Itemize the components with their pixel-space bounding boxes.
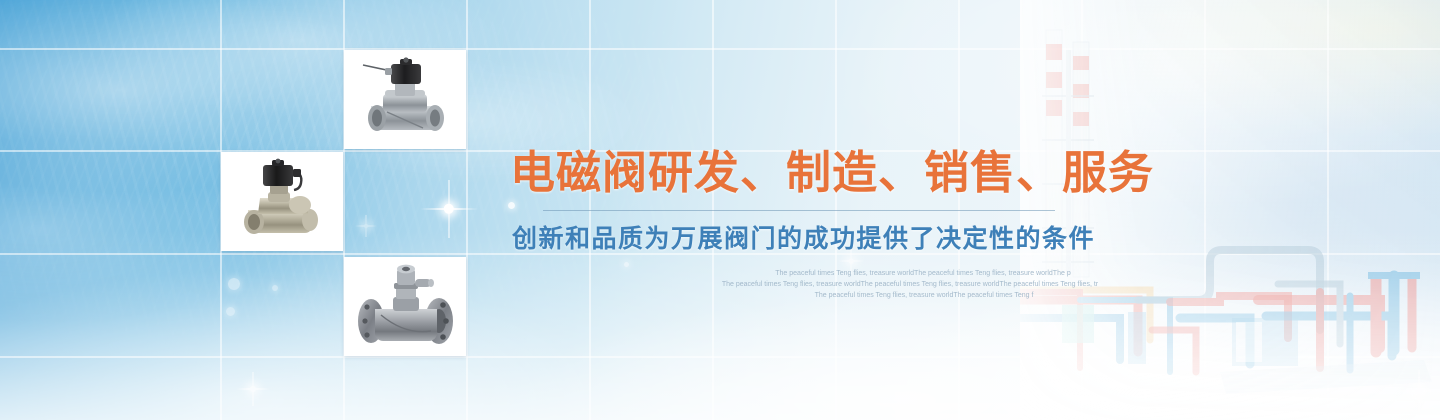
- banner-subheadline: 创新和品质为万展阀门的成功提供了决定性的条件: [512, 219, 1110, 255]
- grid-line-horizontal: [0, 356, 1440, 358]
- grid-line-horizontal: [0, 48, 1440, 50]
- product-card-threaded-solenoid-valve-angled[interactable]: [221, 152, 343, 251]
- light-dot: [228, 278, 240, 290]
- light-dot: [226, 307, 235, 316]
- product-card-threaded-solenoid-valve-horizontal[interactable]: [344, 50, 466, 149]
- headline-divider: [543, 210, 1055, 211]
- threaded-solenoid-valve-horizontal-icon: [351, 56, 459, 144]
- grid-line-vertical: [466, 0, 468, 420]
- sparkle-icon: [1398, 370, 1440, 412]
- sparkle-icon: [420, 180, 478, 238]
- grid-line-vertical: [1204, 0, 1206, 420]
- banner-text-block: 电磁阀研发、制造、销售、服务 创新和品质为万展阀门的成功提供了决定性的条件 Th…: [510, 148, 1110, 302]
- banner-fine-print: The peaceful times Teng flies, treasure …: [640, 269, 1180, 302]
- hero-banner: 电磁阀研发、制造、销售、服务 创新和品质为万展阀门的成功提供了决定性的条件 Th…: [0, 0, 1440, 420]
- product-card-flanged-solenoid-valve[interactable]: [344, 257, 466, 356]
- threaded-solenoid-valve-angled-icon: [230, 158, 334, 246]
- banner-headline: 电磁阀研发、制造、销售、服务: [510, 148, 1110, 198]
- fine-print-line: The peaceful times Teng flies, treasure …: [640, 269, 1180, 280]
- fine-print-line: The peaceful times Teng flies, treasure …: [640, 280, 1180, 291]
- sparkle-icon: [355, 215, 377, 237]
- sparkle-icon: [236, 372, 270, 406]
- flanged-solenoid-valve-icon: [351, 263, 459, 351]
- grid-line-vertical: [1327, 0, 1329, 420]
- fine-print-line: The peaceful times Teng flies, treasure …: [640, 291, 1180, 302]
- light-dot: [272, 285, 278, 291]
